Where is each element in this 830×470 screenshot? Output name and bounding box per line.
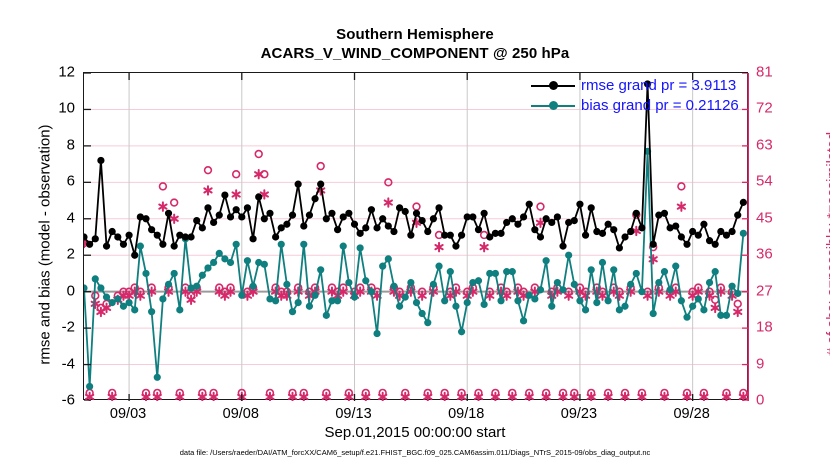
x-tick-label: 09/03: [83, 406, 173, 422]
y-tick-right: 54: [756, 173, 800, 190]
y-tick-left: 12: [33, 64, 75, 81]
chart-title-line1: Southern Hemisphere: [0, 26, 830, 43]
chart-title-line2: ACARS_V_WIND_COMPONENT @ 250 hPa: [0, 45, 830, 62]
chart-page: Southern Hemisphere ACARS_V_WIND_COMPONE…: [0, 0, 830, 470]
y-tick-right: 36: [756, 246, 800, 263]
x-tick-label: 09/23: [534, 406, 624, 422]
x-tick-label: 09/28: [647, 406, 737, 422]
y-tick-right: 81: [756, 64, 800, 81]
y-tick-right: 27: [756, 282, 800, 299]
x-tick-label: 09/08: [196, 406, 286, 422]
legend-marker-bias: [549, 101, 558, 110]
y-tick-right: 72: [756, 100, 800, 117]
y-tick-right: 9: [756, 355, 800, 372]
legend-label-rmse: rmse grand pr = 3.9113: [581, 76, 736, 96]
y-tick-right: 18: [756, 319, 800, 336]
x-tick-label: 09/18: [421, 406, 511, 422]
y-tick-right: 0: [756, 392, 800, 409]
y-axis-label-left: rmse and bias (model - observation): [37, 80, 54, 410]
data-file-footer: data file: /Users/raeder/DAI/ATM_forcXX/…: [0, 448, 830, 457]
y-tick-right: 45: [756, 209, 800, 226]
chart-canvas: [84, 73, 749, 401]
legend-label-bias: bias grand pr = 0.21126: [581, 96, 739, 116]
legend-marker-rmse: [549, 81, 558, 90]
x-axis-label: Sep.01,2015 00:00:00 start: [0, 424, 830, 441]
y-tick-right: 63: [756, 136, 800, 153]
y-axis-label-right: # of obs: o=possible; *=assimilated: [825, 79, 830, 409]
x-tick-label: 09/13: [309, 406, 399, 422]
plot-area: [83, 72, 748, 400]
